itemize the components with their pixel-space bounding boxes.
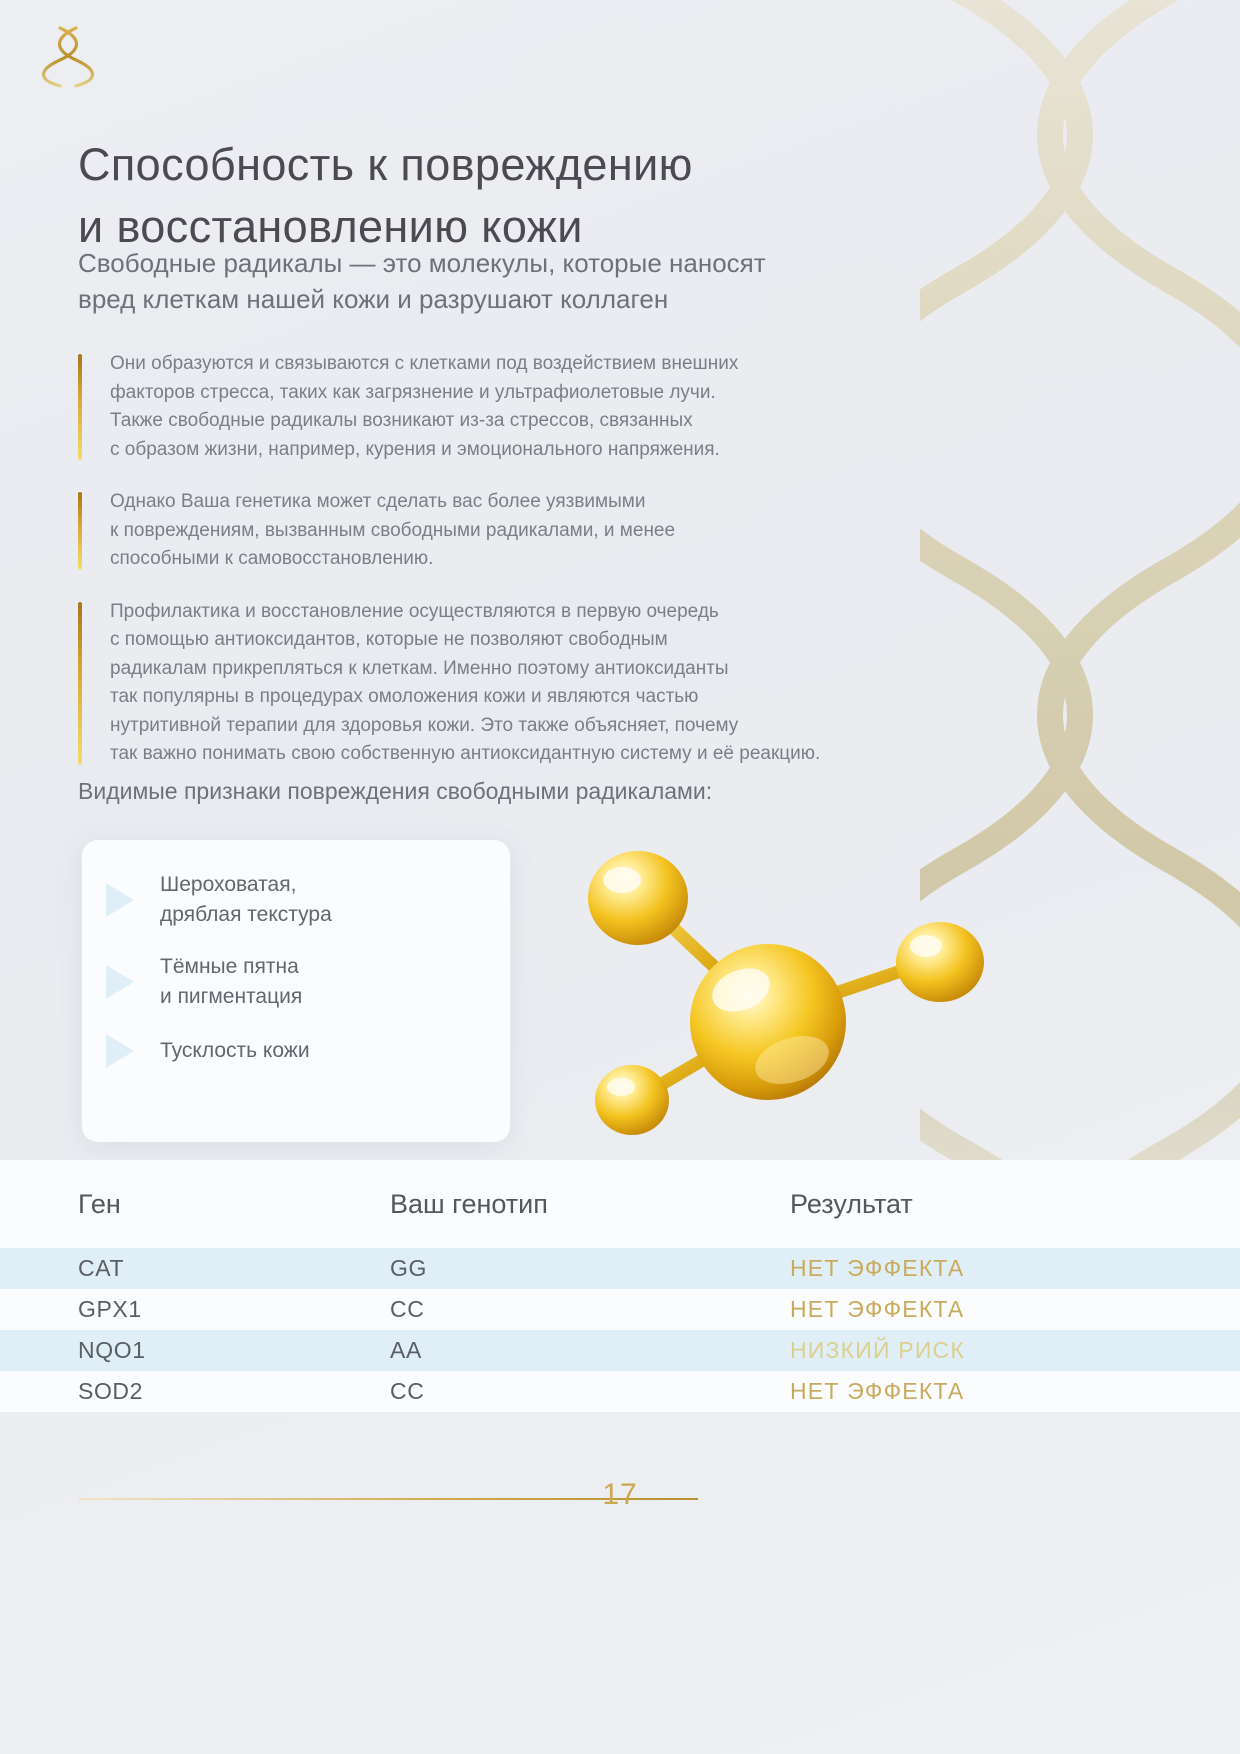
body-line: Однако Ваша генетика может сделать вас б… xyxy=(110,488,938,517)
cell-gene: NQO1 xyxy=(78,1337,390,1364)
body-blocks: Они образуются и связываются с клетками … xyxy=(78,350,938,793)
body-line: Они образуются и связываются с клетками … xyxy=(110,350,938,379)
cell-gene: CAT xyxy=(78,1255,390,1282)
cell-genotype: AA xyxy=(390,1337,790,1364)
list-item: Шероховатая, дряблая текстура xyxy=(82,870,510,930)
table-row: CAT GG НЕТ ЭФФЕКТА xyxy=(0,1248,1240,1289)
dna-helix-logo xyxy=(42,24,94,90)
body-block-text: Однако Ваша генетика может сделать вас б… xyxy=(110,488,938,574)
dna-helix-background xyxy=(920,0,1240,1290)
list-item-line: Тусклость кожи xyxy=(160,1036,310,1066)
body-line: способными к самовосстановлению. xyxy=(110,545,938,574)
list-item: Тусклость кожи xyxy=(82,1034,510,1068)
body-line: к повреждениям, вызванным свободными рад… xyxy=(110,517,938,546)
gold-accent-bar xyxy=(78,492,82,570)
golden-molecule-illustration xyxy=(560,820,1020,1150)
column-header-result: Результат xyxy=(790,1189,1162,1220)
cell-genotype: CC xyxy=(390,1296,790,1323)
cell-gene: GPX1 xyxy=(78,1296,390,1323)
list-item-line: дряблая текстура xyxy=(160,900,332,930)
list-item-label: Тёмные пятна и пигментация xyxy=(160,952,302,1012)
column-header-genotype: Ваш генотип xyxy=(390,1189,790,1220)
triangle-right-icon xyxy=(106,883,134,917)
list-item-label: Тусклость кожи xyxy=(160,1036,310,1066)
body-block: Однако Ваша генетика может сделать вас б… xyxy=(78,488,938,574)
body-block: Профилактика и восстановление осуществля… xyxy=(78,598,938,769)
list-item-line: Тёмные пятна xyxy=(160,952,302,982)
column-header-gene: Ген xyxy=(78,1189,390,1220)
list-item: Тёмные пятна и пигментация xyxy=(82,952,510,1012)
list-item-line: Шероховатая, xyxy=(160,870,332,900)
body-line: факторов стресса, таких как загрязнение … xyxy=(110,379,938,408)
signs-card: Шероховатая, дряблая текстура Тёмные пят… xyxy=(82,840,510,1142)
triangle-right-icon xyxy=(106,1034,134,1068)
page-subtitle: Свободные радикалы — это молекулы, котор… xyxy=(78,245,958,317)
gold-accent-bar xyxy=(78,602,82,765)
body-block: Они образуются и связываются с клетками … xyxy=(78,350,938,464)
status-badge: НЕТ ЭФФЕКТА xyxy=(790,1378,1162,1405)
cell-gene: SOD2 xyxy=(78,1378,390,1405)
body-line: радикалам прикрепляться к клеткам. Именн… xyxy=(110,655,938,684)
body-block-text: Профилактика и восстановление осуществля… xyxy=(110,598,938,769)
table-row: NQO1 AA НИЗКИЙ РИСК xyxy=(0,1330,1240,1371)
body-line: Профилактика и восстановление осуществля… xyxy=(110,598,938,627)
list-item-line: и пигментация xyxy=(160,982,302,1012)
triangle-right-icon xyxy=(106,965,134,999)
report-page: Способность к повреждению и восстановлен… xyxy=(0,0,1240,1754)
cell-genotype: CC xyxy=(390,1378,790,1405)
body-line: нутритивной терапии для здоровья кожи. Э… xyxy=(110,712,938,741)
page-title: Способность к повреждению и восстановлен… xyxy=(78,134,958,258)
status-badge: НИЗКИЙ РИСК xyxy=(790,1337,1162,1364)
page-subtitle-line-2: вред клеткам нашей кожи и разрушают колл… xyxy=(78,281,958,317)
body-line: с помощью антиоксидантов, которые не поз… xyxy=(110,626,938,655)
page-subtitle-line-1: Свободные радикалы — это молекулы, котор… xyxy=(78,245,958,281)
signs-heading: Видимые признаки повреждения свободными … xyxy=(78,778,712,805)
table-row: GPX1 CC НЕТ ЭФФЕКТА xyxy=(0,1289,1240,1330)
body-line: с образом жизни, например, курения и эмо… xyxy=(110,436,938,465)
table-header-row: Ген Ваш генотип Результат xyxy=(0,1160,1240,1248)
status-badge: НЕТ ЭФФЕКТА xyxy=(790,1296,1162,1323)
page-number: 17 xyxy=(0,1478,1240,1512)
body-line: так важно понимать свою собственную анти… xyxy=(110,740,938,769)
cell-genotype: GG xyxy=(390,1255,790,1282)
status-badge: НЕТ ЭФФЕКТА xyxy=(790,1255,1162,1282)
page-title-line-1: Способность к повреждению xyxy=(78,134,958,196)
list-item-label: Шероховатая, дряблая текстура xyxy=(160,870,332,930)
results-table: Ген Ваш генотип Результат CAT GG НЕТ ЭФФ… xyxy=(0,1160,1240,1412)
table-row: SOD2 CC НЕТ ЭФФЕКТА xyxy=(0,1371,1240,1412)
gold-accent-bar xyxy=(78,354,82,460)
body-block-text: Они образуются и связываются с клетками … xyxy=(110,350,938,464)
body-line: Также свободные радикалы возникают из-за… xyxy=(110,407,938,436)
body-line: так популярны в процедурах омоложения ко… xyxy=(110,683,938,712)
